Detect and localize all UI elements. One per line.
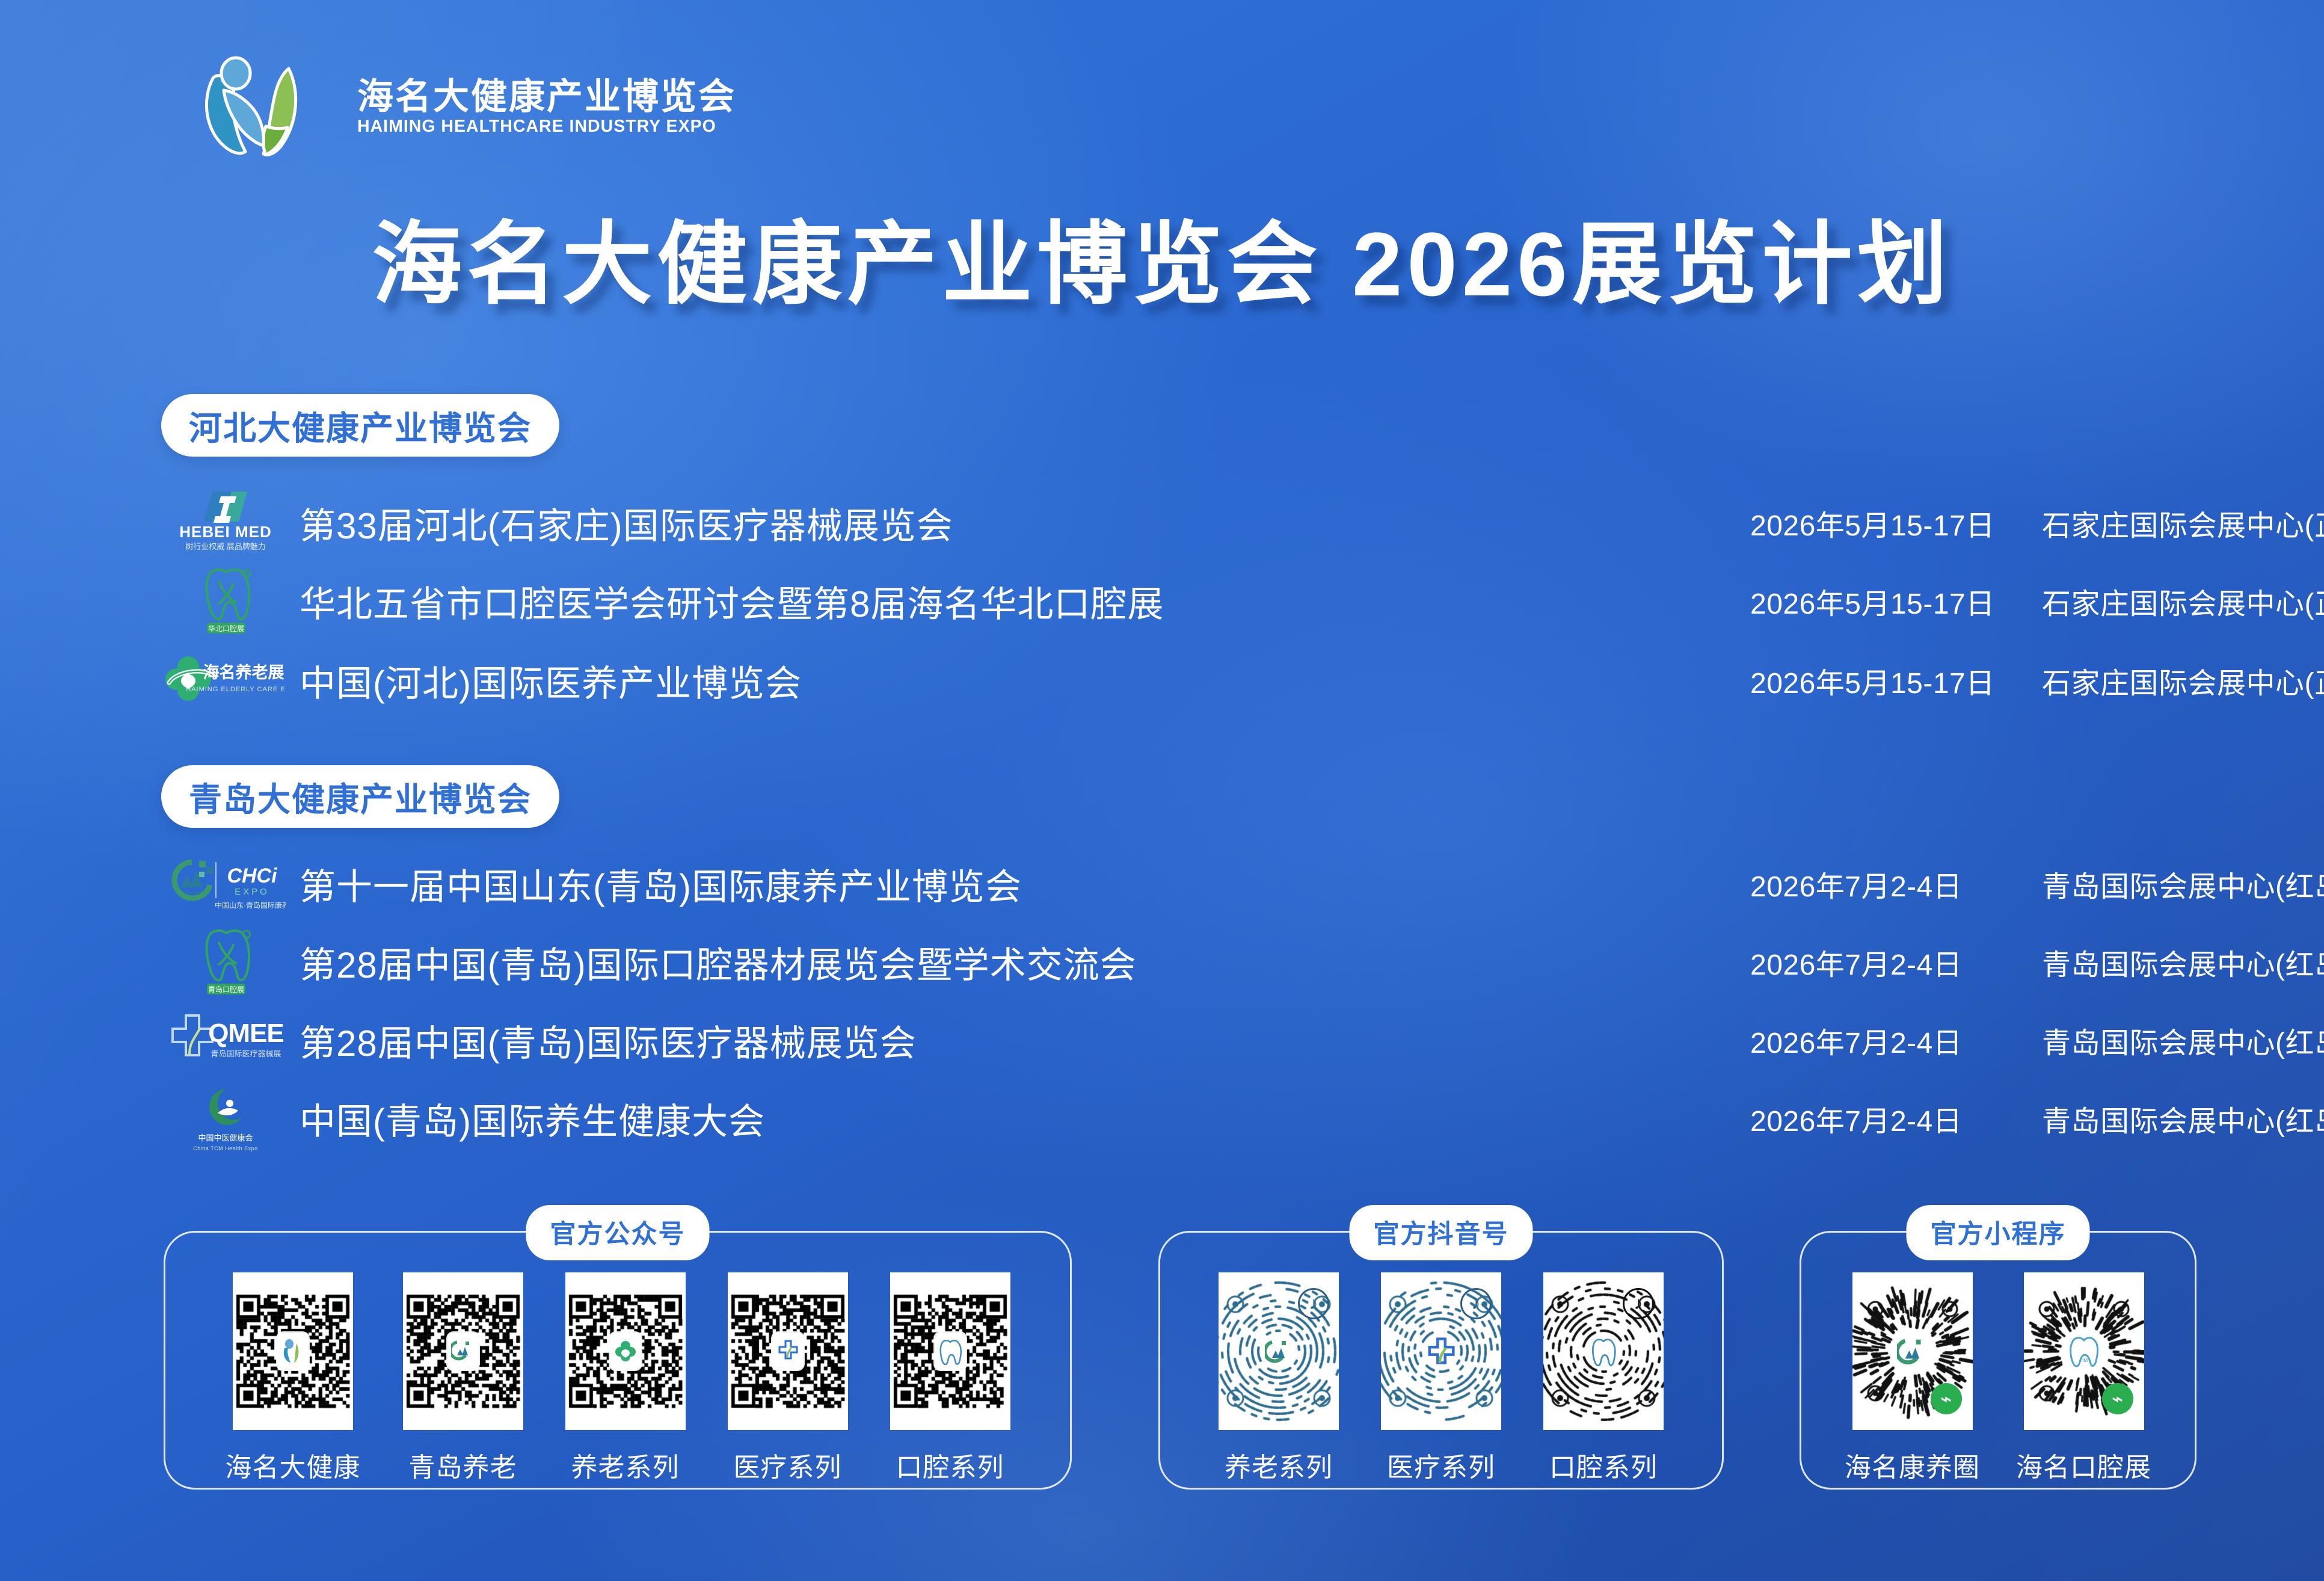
svg-text:青岛国际医疗器械展: 青岛国际医疗器械展 xyxy=(211,1049,281,1058)
douyin-badge-icon: ♪ xyxy=(1623,1288,1654,1319)
qr-code-image[interactable] xyxy=(890,1272,1010,1430)
event-venue: 石家庄国际会展中心(正定馆) xyxy=(2042,659,2324,701)
svg-text:青岛口腔展: 青岛口腔展 xyxy=(208,985,244,994)
medical-cross-logo-icon xyxy=(1425,1333,1457,1370)
china-tcm-health-expo-logo-icon: 中国中医健康会 China TCM Health Expo xyxy=(162,1083,289,1154)
qr-label: 口腔系列 xyxy=(1549,1446,1658,1484)
svg-text:树行业权威 展品牌魅力: 树行业权威 展品牌魅力 xyxy=(185,542,266,551)
qr-code-image[interactable]: ♪ xyxy=(1543,1272,1664,1430)
qr-label: 海名康养圈 xyxy=(1845,1446,1980,1484)
event-date: 2026年7月2-4日 xyxy=(1750,1097,1962,1139)
qr-code-image[interactable] xyxy=(233,1272,353,1430)
qingdao-elderly-logo-icon xyxy=(1263,1333,1294,1370)
qr-panel-title: 官方抖音号 xyxy=(1350,1205,1533,1260)
event-date: 2026年7月2-4日 xyxy=(1750,941,1962,983)
qr-cell[interactable]: 口腔系列 xyxy=(890,1272,1010,1484)
qr-cell[interactable]: ⌁ 海名康养圈 xyxy=(1845,1272,1980,1484)
event-name: 第28届中国(青岛)国际医疗器械展览会 xyxy=(300,1014,917,1067)
event-name: 中国(青岛)国际养生健康大会 xyxy=(300,1093,765,1145)
douyin-badge-icon: ♪ xyxy=(1298,1288,1329,1319)
brand-logo: 海名大健康产业博览会 HAIMING HEALTHCARE INDUSTRY E… xyxy=(198,55,736,158)
qr-panel-miniprograms: 官方小程序 ⌁ 海名康养圈 HM ⌁ xyxy=(1800,1231,2196,1490)
event-venue: 青岛国际会展中心(红岛馆) xyxy=(2042,863,2324,905)
qr-panel-title: 官方小程序 xyxy=(1907,1205,2090,1260)
qingdao-elderly-logo-icon xyxy=(447,1333,479,1370)
event-venue: 青岛国际会展中心(红岛馆) xyxy=(2042,941,2324,983)
event-date: 2026年7月2-4日 xyxy=(1750,1019,1962,1061)
haiming-figure-icon xyxy=(198,55,342,158)
hm-dental-logo-icon: HM xyxy=(2063,1333,2105,1370)
event-name: 第28届中国(青岛)国际口腔器材展览会暨学术交流会 xyxy=(300,936,1137,988)
svg-text:CHCi: CHCi xyxy=(227,864,278,887)
tooth-logo-icon xyxy=(1588,1333,1619,1370)
qr-code-image[interactable]: ⌁ xyxy=(1852,1272,1973,1430)
qr-label: 海名口腔展 xyxy=(2016,1446,2151,1484)
qr-label: 养老系列 xyxy=(1225,1446,1333,1484)
svg-text:EXPO: EXPO xyxy=(235,887,269,897)
poster-root: 海名大健康产业博览会 HAIMING HEALTHCARE INDUSTRY E… xyxy=(0,0,2324,1581)
qr-code-image[interactable] xyxy=(565,1272,686,1430)
qr-code-image[interactable] xyxy=(728,1272,848,1430)
qr-cell[interactable]: HM ⌁ 海名口腔展 xyxy=(2016,1272,2151,1484)
event-row[interactable]: QMEE 青岛国际医疗器械展 第28届中国(青岛)国际医疗器械展览会 2026年… xyxy=(162,1005,2165,1076)
qr-code-image[interactable]: ♪ xyxy=(1381,1272,1501,1430)
event-venue: 石家庄国际会展中心(正定馆) xyxy=(2042,502,2324,544)
wechat-miniprogram-badge-icon: ⌁ xyxy=(2102,1383,2133,1414)
qr-code-image[interactable]: ♪ xyxy=(1219,1272,1339,1430)
hebei-med-logo-icon: HEBEI MED 树行业权威 展品牌魅力 xyxy=(162,487,289,558)
brand-name-cn: 海名大健康产业博览会 xyxy=(357,78,736,116)
qr-label: 医疗系列 xyxy=(734,1446,842,1484)
qr-cell[interactable]: ♪ 口腔系列 xyxy=(1543,1272,1664,1484)
event-venue: 石家庄国际会展中心(正定馆) xyxy=(2042,580,2324,622)
qr-panel-official-accounts: 官方公众号 海名大健康 青岛养老 xyxy=(164,1231,1072,1490)
qingdao-elderly-logo-icon xyxy=(1897,1333,1928,1370)
tooth-logo-icon xyxy=(935,1333,966,1370)
svg-text:海名养老展: 海名养老展 xyxy=(203,663,284,682)
event-row[interactable]: 海名养老展 HAIMING ELDERLY CARE EXPO 中国(河北)国际… xyxy=(162,645,2165,716)
event-row[interactable]: 中国中医健康会 China TCM Health Expo 中国(青岛)国际养生… xyxy=(162,1083,2165,1154)
qr-cell[interactable]: ♪ 医疗系列 xyxy=(1381,1272,1501,1484)
event-name: 第33届河北(石家庄)国际医疗器械展览会 xyxy=(300,497,953,549)
event-date: 2026年7月2-4日 xyxy=(1750,863,1962,905)
brand-name-en: HAIMING HEALTHCARE INDUSTRY EXPO xyxy=(357,118,736,136)
event-venue: 青岛国际会展中心(红岛馆) xyxy=(2042,1019,2324,1061)
haiming-elderly-care-logo-icon: 海名养老展 HAIMING ELDERLY CARE EXPO xyxy=(162,645,289,716)
svg-text:中国中医健康会: 中国中医健康会 xyxy=(198,1133,253,1142)
event-name: 第十一届中国山东(青岛)国际康养产业博览会 xyxy=(300,858,1022,910)
event-name: 中国(河北)国际医养产业博览会 xyxy=(300,655,802,707)
qr-label: 医疗系列 xyxy=(1387,1446,1495,1484)
haiming-figure-logo-icon xyxy=(277,1333,309,1370)
svg-text:HEBEI MED: HEBEI MED xyxy=(179,523,271,541)
qingdao-dental-logo-icon: 青岛口腔展 xyxy=(162,926,289,997)
qr-cell[interactable]: 医疗系列 xyxy=(728,1272,848,1484)
svg-text:HAIMING ELDERLY CARE EXPO: HAIMING ELDERLY CARE EXPO xyxy=(186,686,286,693)
qr-panel-title: 官方公众号 xyxy=(526,1205,710,1260)
event-date: 2026年5月15-17日 xyxy=(1750,502,1995,544)
svg-text:华北口腔展: 华北口腔展 xyxy=(208,624,244,633)
event-row[interactable]: R 华北口腔展 华北五省市口腔医学会研讨会暨第8届海名华北口腔展 2026年5月… xyxy=(162,566,2165,636)
event-date: 2026年5月15-17日 xyxy=(1750,659,1995,701)
qr-label: 口腔系列 xyxy=(896,1446,1004,1484)
qr-label: 养老系列 xyxy=(571,1446,680,1484)
event-venue: 青岛国际会展中心(红岛馆) xyxy=(2042,1097,2324,1139)
medical-cross-logo-icon xyxy=(772,1333,804,1370)
event-name: 华北五省市口腔医学会研讨会暨第8届海名华北口腔展 xyxy=(300,575,1164,627)
clover-logo-icon xyxy=(610,1333,641,1370)
chci-expo-logo-icon: CHCi EXPO 中国山东·青岛国际康养 xyxy=(162,848,289,919)
huabei-dental-logo-icon: R 华北口腔展 xyxy=(162,566,289,636)
event-date: 2026年5月15-17日 xyxy=(1750,580,1995,622)
page-title: 海名大健康产业博览会 2026展览计划 xyxy=(0,191,2324,322)
svg-text:R: R xyxy=(245,572,248,576)
douyin-badge-icon: ♪ xyxy=(1460,1288,1492,1319)
svg-text:中国山东·青岛国际康养: 中国山东·青岛国际康养 xyxy=(215,901,286,910)
qr-code-image[interactable]: HM ⌁ xyxy=(2024,1272,2144,1430)
section-header-hebei: 河北大健康产业博览会 xyxy=(161,394,559,457)
svg-text:China TCM Health Expo: China TCM Health Expo xyxy=(193,1145,257,1151)
svg-text:HM: HM xyxy=(2080,1358,2088,1363)
qr-cell[interactable]: 海名大健康 xyxy=(226,1272,361,1484)
qr-cell[interactable]: 青岛养老 xyxy=(403,1272,523,1484)
qr-code-image[interactable] xyxy=(403,1272,523,1430)
qr-label: 海名大健康 xyxy=(226,1446,361,1484)
qr-label: 青岛养老 xyxy=(409,1446,517,1484)
event-row[interactable]: CHCi EXPO 中国山东·青岛国际康养 第十一届中国山东(青岛)国际康养产业… xyxy=(162,848,2165,919)
qr-panel-douyin-accounts: 官方抖音号 ♪ 养老系列 ♪ xyxy=(1158,1231,1724,1490)
wechat-miniprogram-badge-icon: ⌁ xyxy=(1931,1383,1962,1414)
event-row[interactable]: HEBEI MED 树行业权威 展品牌魅力 第33届河北(石家庄)国际医疗器械展… xyxy=(162,487,2165,558)
qr-cell[interactable]: 养老系列 xyxy=(565,1272,686,1484)
event-row[interactable]: 青岛口腔展 第28届中国(青岛)国际口腔器材展览会暨学术交流会 2026年7月2… xyxy=(162,926,2165,997)
qmee-logo-icon: QMEE 青岛国际医疗器械展 xyxy=(162,1005,289,1076)
section-header-qingdao: 青岛大健康产业博览会 xyxy=(161,765,559,828)
svg-text:QMEE: QMEE xyxy=(208,1019,284,1048)
qr-cell[interactable]: ♪ 养老系列 xyxy=(1219,1272,1339,1484)
